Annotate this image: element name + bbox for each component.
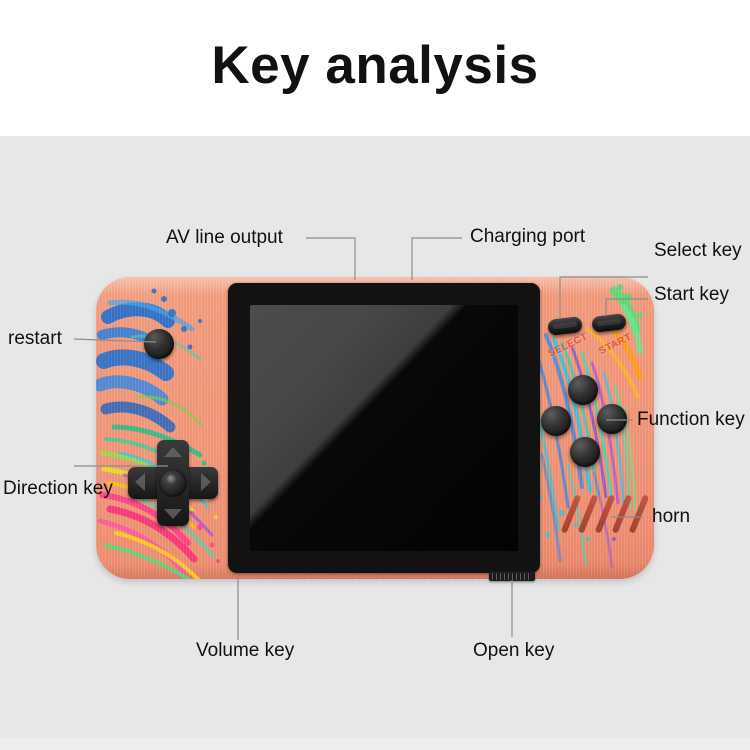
paint-splatter-left	[96, 277, 234, 579]
restart-button[interactable]	[144, 329, 174, 359]
dpad-left-arrow-icon[interactable]	[135, 473, 145, 491]
direction-pad[interactable]	[128, 440, 218, 526]
page-title: Key analysis	[0, 36, 750, 96]
dpad-center-hub[interactable]	[159, 469, 187, 497]
dpad-up-arrow-icon[interactable]	[164, 447, 182, 457]
callout-label-horn: horn	[652, 506, 690, 528]
function-button-bottom[interactable]	[570, 437, 600, 467]
callout-label-open-key: Open key	[473, 640, 554, 662]
lcd-screen-bezel	[228, 283, 540, 573]
callout-label-direction-key: Direction key	[3, 478, 113, 500]
callout-label-av-line-output: AV line output	[166, 227, 283, 249]
screenshot-root: Key analysis	[0, 0, 750, 750]
dpad-down-arrow-icon[interactable]	[164, 509, 182, 519]
callout-label-start-key: Start key	[654, 284, 729, 306]
lcd-screen	[250, 305, 518, 551]
callout-label-restart: restart	[8, 328, 62, 350]
callout-label-function-key: Function key	[637, 409, 745, 431]
horn-speaker-grille	[568, 494, 646, 536]
function-button-left[interactable]	[541, 406, 571, 436]
callout-label-select-key: Select key	[654, 240, 742, 262]
dpad-right-arrow-icon[interactable]	[201, 473, 211, 491]
callout-label-charging-port: Charging port	[470, 226, 585, 248]
open-key-switch[interactable]	[489, 571, 535, 581]
function-button-right[interactable]	[597, 404, 627, 434]
function-button-top[interactable]	[568, 375, 598, 405]
footer-band	[0, 738, 750, 750]
callout-label-volume-key: Volume key	[196, 640, 294, 662]
